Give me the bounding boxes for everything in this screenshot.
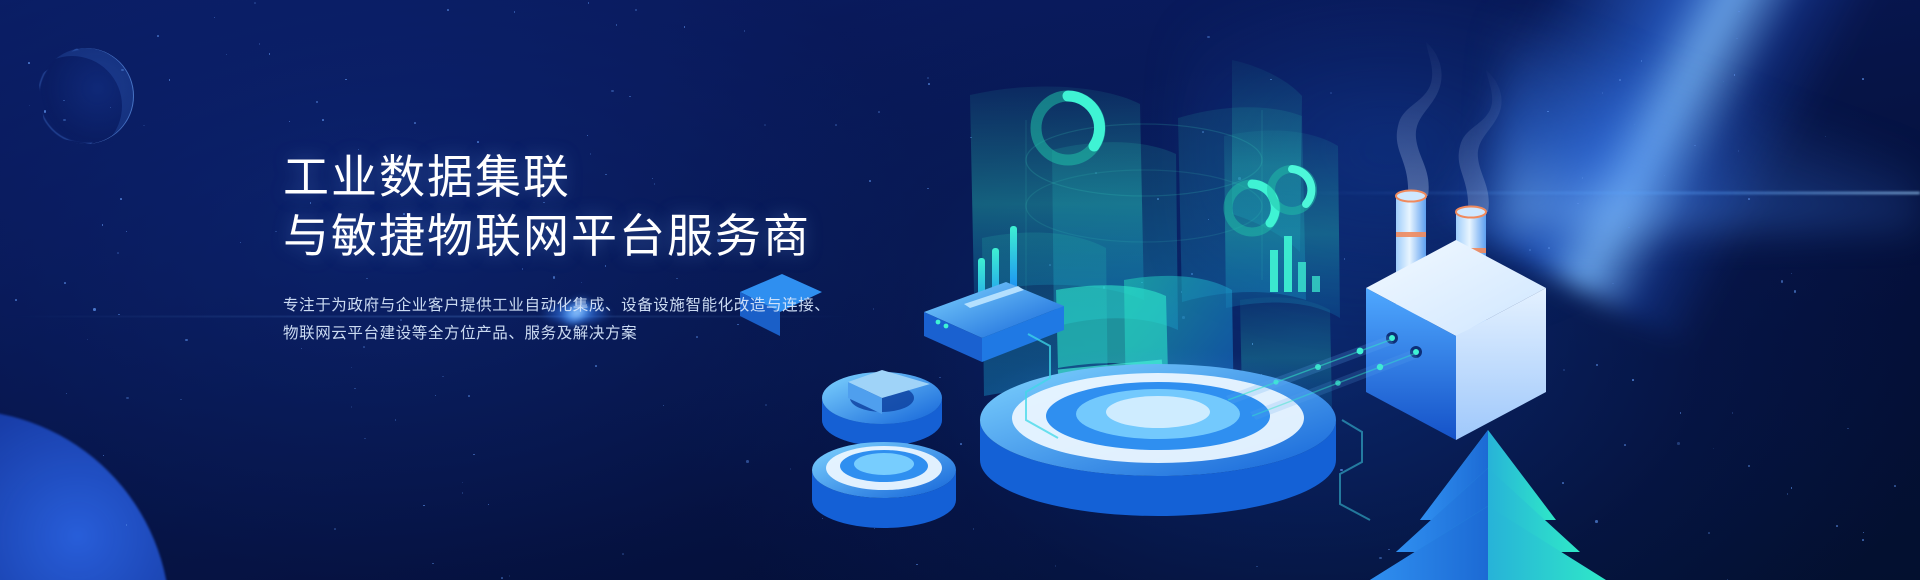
subtitle-line-1: 专注于为政府与企业客户提供工业自动化集成、设备设施智能化改造与连接、 xyxy=(283,292,1043,321)
factory-building xyxy=(1366,42,1546,440)
illustration xyxy=(940,0,1660,580)
smoke-plume xyxy=(1397,42,1502,212)
planet-arc xyxy=(0,410,170,580)
hero-copy: 工业数据集联 与敏捷物联网平台服务商 专注于为政府与企业客户提供工业自动化集成、… xyxy=(283,148,1043,349)
hero-banner: 工业数据集联 与敏捷物联网平台服务商 专注于为政府与企业客户提供工业自动化集成、… xyxy=(0,0,1920,580)
page-title: 工业数据集联 与敏捷物联网平台服务商 xyxy=(283,148,1043,266)
glowing-disc-platform xyxy=(980,346,1336,516)
cable-path-right xyxy=(1340,420,1370,520)
layered-pyramid xyxy=(1370,430,1606,580)
subtitle-line-2: 物联网云平台建设等全方位产品、服务及解决方案 xyxy=(283,320,1043,349)
hero-subtitle: 专注于为政府与企业客户提供工业自动化集成、设备设施智能化改造与连接、 物联网云平… xyxy=(283,292,1043,349)
donut-chart-3d xyxy=(822,370,942,446)
headline-line-2: 与敏捷物联网平台服务商 xyxy=(283,207,1043,266)
small-disc-platform xyxy=(812,442,956,528)
headline-line-1: 工业数据集联 xyxy=(283,151,571,203)
crescent-moon-icon xyxy=(38,48,134,144)
